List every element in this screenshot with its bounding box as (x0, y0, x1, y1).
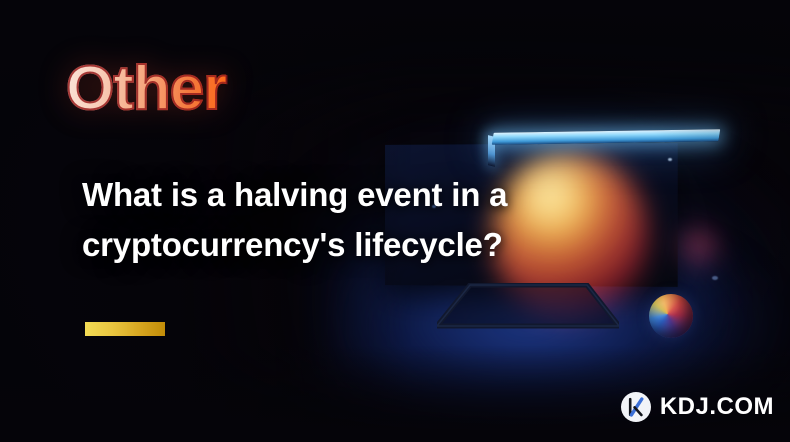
kdj-logo-mark (621, 392, 651, 422)
brand-name: KDJ.COM (660, 395, 774, 419)
letter-k-icon (625, 396, 647, 418)
card-content: Other What is a halving event in a crypt… (0, 0, 790, 442)
article-headline: What is a halving event in a cryptocurre… (82, 170, 602, 270)
accent-divider-bar (85, 322, 165, 336)
brand-logo[interactable]: KDJ.COM (621, 392, 774, 422)
category-label: Other (66, 58, 226, 120)
article-card: Other What is a halving event in a crypt… (0, 0, 790, 442)
